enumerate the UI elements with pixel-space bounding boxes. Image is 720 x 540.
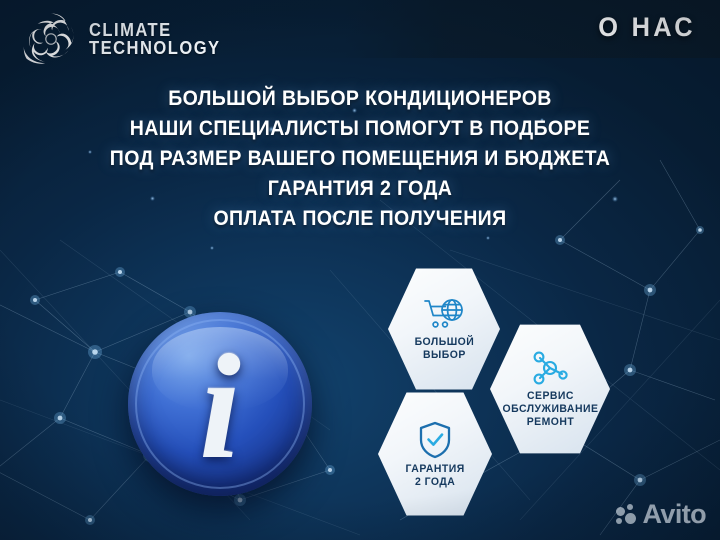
headline-block: БОЛЬШОЙ ВЫБОР КОНДИЦИОНЕРОВ НАШИ СПЕЦИАЛ… <box>0 84 720 234</box>
headline-line: НАШИ СПЕЦИАЛИСТЫ ПОМОГУТ В ПОДБОРЕ <box>25 114 695 144</box>
shield-check-icon <box>417 420 453 460</box>
network-nodes-icon <box>529 349 571 387</box>
avito-watermark: Avito <box>616 501 707 528</box>
headline-line: ОПЛАТА ПОСЛЕ ПОЛУЧЕНИЯ <box>25 204 695 234</box>
poster-canvas: CLIMATE TECHNOLOGY О НАС БОЛЬШОЙ ВЫБОР К… <box>0 0 720 540</box>
network-background <box>0 0 720 540</box>
info-glyph: i <box>199 349 241 466</box>
avito-wordmark: Avito <box>643 501 707 528</box>
feature-label-line1: СЕРВИС <box>502 390 598 403</box>
page-title: О НАС <box>598 12 696 43</box>
information-circle-icon: i <box>128 312 312 496</box>
headline-line: ПОД РАЗМЕР ВАШЕГО ПОМЕЩЕНИЯ И БЮДЖЕТА <box>25 144 695 174</box>
feature-label: БОЛЬШОЙ ВЫБОР <box>414 336 474 362</box>
brand-name-line1: CLIMATE <box>89 21 221 39</box>
feature-label-line1: БОЛЬШОЙ <box>414 336 474 349</box>
feature-label-line3: РЕМОНТ <box>502 416 598 429</box>
brand-name-line2: TECHNOLOGY <box>89 39 221 57</box>
headline-line: БОЛЬШОЙ ВЫБОР КОНДИЦИОНЕРОВ <box>25 84 695 114</box>
feature-label: ГАРАНТИЯ 2 ГОДА <box>405 463 464 489</box>
brand-name: CLIMATE TECHNOLOGY <box>89 21 232 58</box>
feature-label-line2: 2 ГОДА <box>405 476 464 489</box>
headline-line: ГАРАНТИЯ 2 ГОДА <box>25 174 695 204</box>
shopping-cart-globe-icon <box>422 297 466 333</box>
fan-spiral-logo-icon <box>22 8 80 70</box>
feature-label-line2: ВЫБОР <box>414 349 474 362</box>
avito-dots-icon <box>616 504 638 526</box>
feature-label-line1: ГАРАНТИЯ <box>405 463 464 476</box>
feature-label-line2: ОБСЛУЖИВАНИЕ <box>502 403 598 416</box>
brand-logo: CLIMATE TECHNOLOGY <box>22 8 232 70</box>
feature-label: СЕРВИС ОБСЛУЖИВАНИЕ РЕМОНТ <box>502 390 598 429</box>
